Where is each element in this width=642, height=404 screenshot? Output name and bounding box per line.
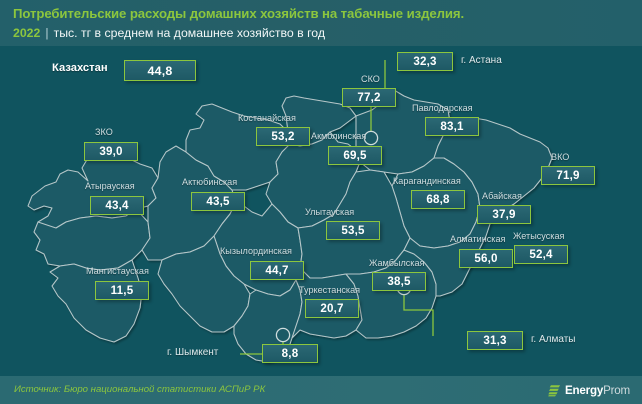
city-label-shymkent: г. Шымкент xyxy=(167,347,218,358)
city-label-astana: г. Астана xyxy=(461,55,502,66)
region-value-mangistauskaya[interactable]: 11,5 xyxy=(95,281,149,300)
region-value-sko[interactable]: 77,2 xyxy=(342,88,396,107)
header-bar: Потребительские расходы домашних хозяйст… xyxy=(0,0,642,46)
region-label-mangistauskaya: Мангистауская xyxy=(86,266,149,276)
source-note: Источник: Бюро национальной статистики А… xyxy=(14,384,265,395)
region-label-aktyubinskaya: Актюбинская xyxy=(182,177,237,187)
region-label-zhambylskaya: Жамбылская xyxy=(369,258,424,268)
energyprom-logo-icon xyxy=(548,384,561,397)
region-value-kyzylordinskaya[interactable]: 44,7 xyxy=(250,261,304,280)
logo-text-prom: Prom xyxy=(603,384,630,397)
region-label-almatinskaya: Алматинская xyxy=(450,234,505,244)
region-value-almatinskaya[interactable]: 56,0 xyxy=(459,249,513,268)
region-label-kyzylordinskaya: Кызылординская xyxy=(220,246,292,256)
region-value-atyrauskaya[interactable]: 43,4 xyxy=(90,196,144,215)
region-label-zko: ЗКО xyxy=(95,127,113,137)
region-value-vko[interactable]: 71,9 xyxy=(541,166,595,185)
shymkent-city-marker[interactable] xyxy=(276,328,289,341)
region-value-zhetysuskaya[interactable]: 52,4 xyxy=(514,245,568,264)
footer-bar: Источник: Бюро национальной статистики А… xyxy=(0,376,642,404)
header-unit-description: тыс. тг в среднем на домашнее хозяйство … xyxy=(54,26,326,40)
region-value-ulytauskaya[interactable]: 53,5 xyxy=(326,221,380,240)
city-value-shymkent[interactable]: 8,8 xyxy=(262,344,318,363)
logo-text-energy: Energy xyxy=(565,384,603,397)
region-value-zhambylskaya[interactable]: 38,5 xyxy=(372,272,426,291)
city-label-almaty: г. Алматы xyxy=(531,334,575,345)
header-year: 2022 xyxy=(13,26,40,40)
region-label-pavlodarskaya: Павлодарская xyxy=(412,103,473,113)
region-label-ulytauskaya: Улытауская xyxy=(305,207,354,217)
region-label-karagandinskaya: Карагандинская xyxy=(393,176,461,186)
region-value-pavlodarskaya[interactable]: 83,1 xyxy=(425,117,479,136)
region-label-abayskaya: Абайская xyxy=(482,191,522,201)
region-value-abayskaya[interactable]: 37,9 xyxy=(477,205,531,224)
region-value-turkestanskaya[interactable]: 20,7 xyxy=(305,299,359,318)
city-value-astana[interactable]: 32,3 xyxy=(397,52,453,71)
header-divider: | xyxy=(45,26,48,40)
city-value-almaty[interactable]: 31,3 xyxy=(467,331,523,350)
region-value-akmolinskaya[interactable]: 69,5 xyxy=(328,146,382,165)
region-label-kostanayskaya: Костанайская xyxy=(238,113,296,123)
region-value-karagandinskaya[interactable]: 68,8 xyxy=(411,190,465,209)
region-label-zhetysuskaya: Жетысуская xyxy=(513,231,564,241)
page-title: Потребительские расходы домашних хозяйст… xyxy=(13,6,464,21)
region-label-sko: СКО xyxy=(361,74,380,84)
infographic-page: Потребительские расходы домашних хозяйст… xyxy=(0,0,642,404)
astana-city-marker[interactable] xyxy=(364,131,377,144)
region-label-akmolinskaya: Акмолинская xyxy=(311,131,366,141)
region-label-turkestanskaya: Туркестанская xyxy=(299,285,360,295)
region-label-vko: ВКО xyxy=(551,152,569,162)
energyprom-logo[interactable]: EnergyProm xyxy=(548,382,630,398)
region-value-aktyubinskaya[interactable]: 43,5 xyxy=(191,192,245,211)
country-label: Казахстан xyxy=(52,62,108,74)
region-label-atyrauskaya: Атырауская xyxy=(85,181,135,191)
region-value-kostanayskaya[interactable]: 53,2 xyxy=(256,127,310,146)
country-value-box[interactable]: 44,8 xyxy=(124,60,196,81)
header-subtitle: 2022|тыс. тг в среднем на домашнее хозяй… xyxy=(13,26,325,40)
region-value-zko[interactable]: 39,0 xyxy=(84,142,138,161)
